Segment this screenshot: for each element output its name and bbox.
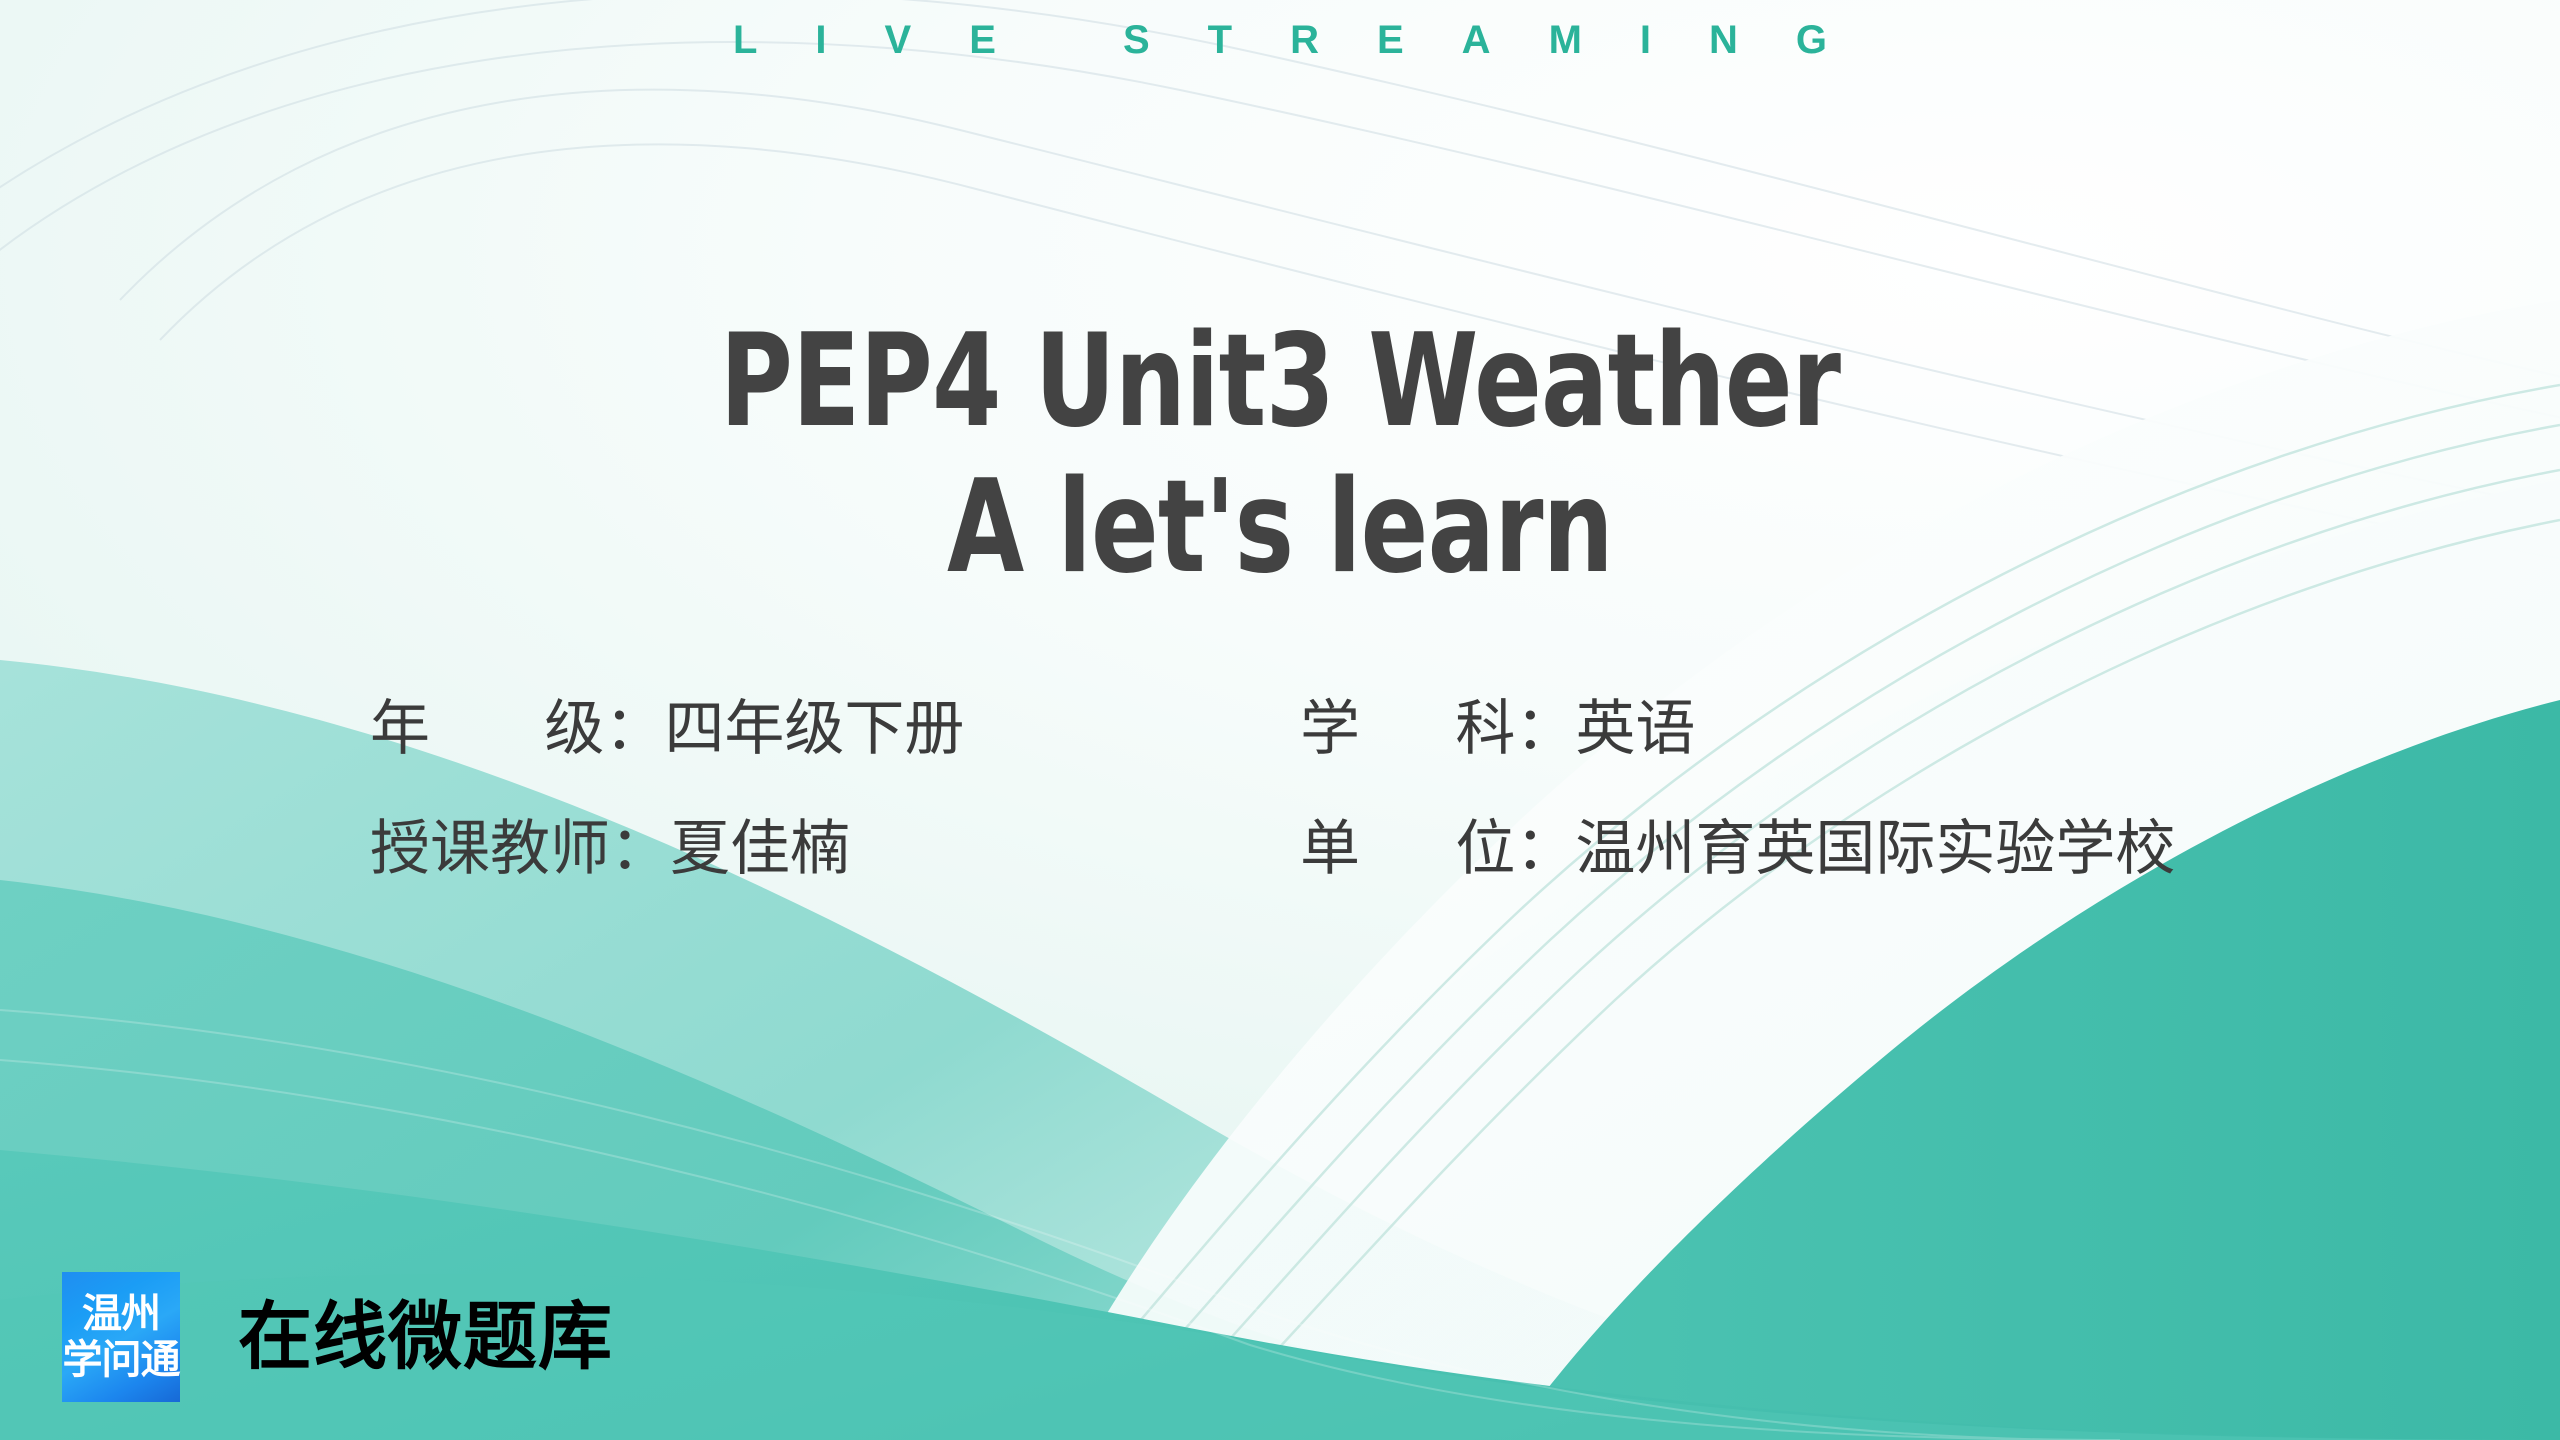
metadata-grade-label: 年 级 <box>370 680 604 767</box>
presentation-title-slide: LIVE STREAMING PEP4 Unit3 Weather A let'… <box>0 0 2560 1440</box>
brand-name-text: 在线微题库 <box>238 1300 613 1374</box>
page-title-line-1: PEP4 Unit3 Weather <box>282 320 2279 444</box>
wenzhou-xuewentong-logo: 温州 学问通 <box>62 1272 180 1402</box>
metadata-teacher-label: 授课教师 <box>370 800 610 887</box>
metadata-teacher-value: 夏佳楠 <box>670 800 850 887</box>
metadata-school: 单 位 ： 温州育英国际实验学校 <box>1300 800 2200 887</box>
metadata-row: 授课教师 ： 夏佳楠 单 位 ： 温州育英国际实验学校 <box>370 800 2200 920</box>
title-block: PEP4 Unit3 Weather A let's learn <box>0 320 2560 590</box>
metadata-subject-value: 英语 <box>1575 680 1695 767</box>
metadata-subject-label: 学 科 <box>1300 680 1515 767</box>
metadata-school-value: 温州育英国际实验学校 <box>1575 800 2175 887</box>
metadata-subject-colon: ： <box>1515 680 1575 767</box>
metadata-school-colon: ： <box>1515 800 1575 887</box>
logo-line-1: 温州 <box>82 1291 160 1337</box>
page-title-line-2: A let's learn <box>282 466 2279 590</box>
metadata-teacher: 授课教师 ： 夏佳楠 <box>370 800 1300 887</box>
metadata-row: 年 级 ： 四年级下册 学 科 ： 英语 <box>370 680 2200 800</box>
live-streaming-eyebrow: LIVE STREAMING <box>0 18 2560 63</box>
lesson-metadata: 年 级 ： 四年级下册 学 科 ： 英语 授课教师 ： 夏佳楠 单 位 ： 温州… <box>370 680 2200 920</box>
logo-line-2: 学问通 <box>63 1337 180 1383</box>
metadata-grade-value: 四年级下册 <box>664 680 964 767</box>
metadata-subject: 学 科 ： 英语 <box>1300 680 2200 767</box>
metadata-teacher-colon: ： <box>610 800 670 887</box>
brand-footer: 温州 学问通 在线微题库 <box>62 1272 613 1402</box>
metadata-grade: 年 级 ： 四年级下册 <box>370 680 1300 767</box>
metadata-school-label: 单 位 <box>1300 800 1515 887</box>
metadata-grade-colon: ： <box>604 680 664 767</box>
